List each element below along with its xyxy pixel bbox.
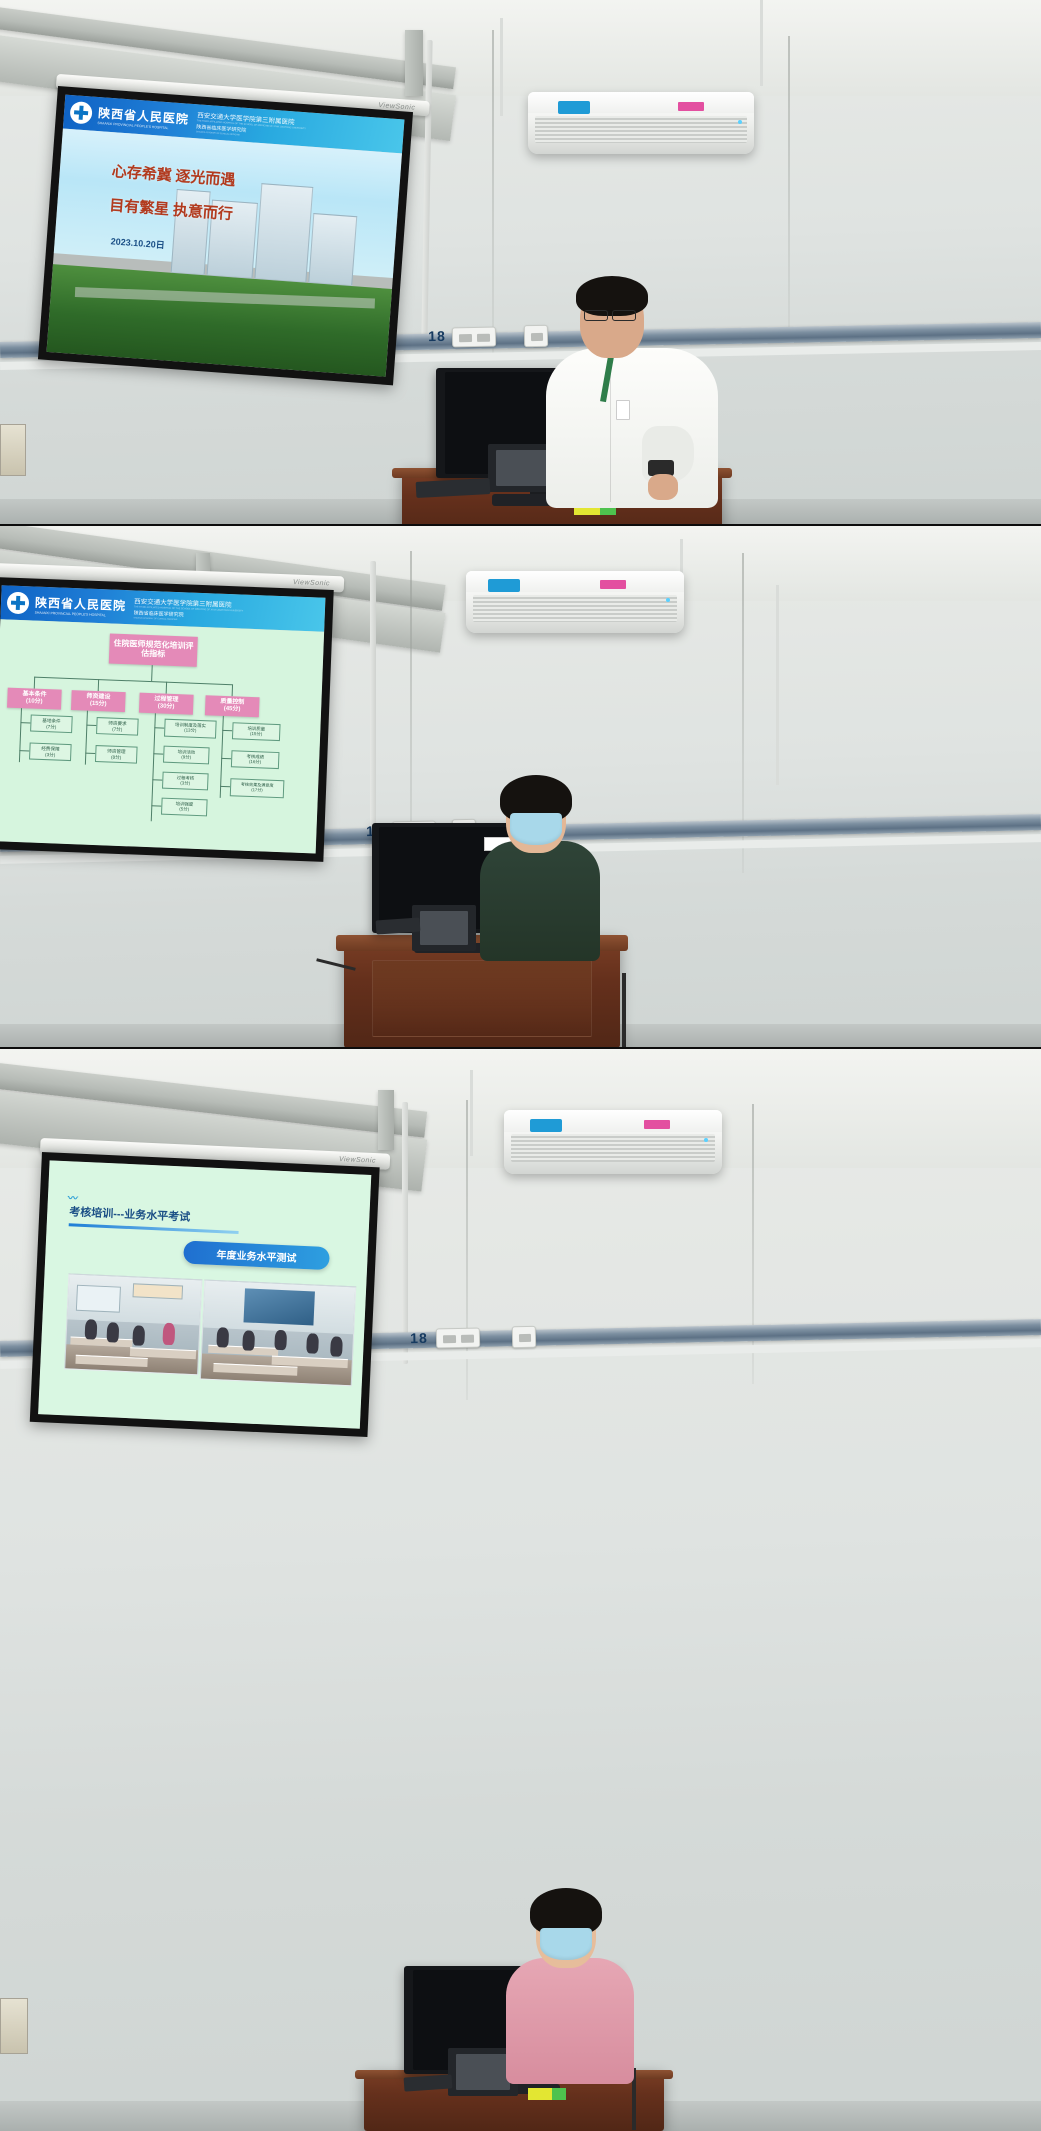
exam-pill-label: 年度业务水平测试 [216, 1246, 297, 1265]
cross-icon-2 [11, 596, 26, 611]
exam-photo-right-student-1 [216, 1327, 229, 1348]
ac-badge-2 [488, 579, 520, 592]
projection-screen-3: ViewSonic 〰 考核培训---业务水平考试 年度业务水平测试 [30, 1152, 388, 1437]
org-node-c3-1: 考核成绩 (16分) [231, 750, 280, 769]
org-node-c2-3-score: (5分) [179, 807, 189, 812]
outlet-plate-6 [512, 1326, 536, 1348]
org-node-l1-1-score: (15分) [90, 701, 107, 708]
org-node-c0-0: 基地条件 (7分) [30, 715, 73, 734]
org-node-l1-2-score: (30分) [158, 703, 175, 710]
ac-badge-3 [530, 1119, 562, 1132]
exam-photo-left-student-4 [162, 1323, 175, 1346]
exam-photo-left-student-2 [106, 1322, 119, 1343]
org-node-c0-1-score: (3分) [45, 752, 55, 758]
ac-sticker-3 [644, 1120, 670, 1129]
exam-photo-right-student-5 [330, 1336, 343, 1357]
wall-seam-1 [492, 30, 494, 360]
panel-divider-2 [0, 1047, 1041, 1049]
cable-conduit-3 [402, 1102, 408, 1364]
org-node-c2-0-score: (13分) [184, 728, 196, 733]
org-node-c2-1: 培训活动 (9分) [163, 746, 210, 765]
surgical-mask-1 [510, 813, 562, 845]
org-node-c3-0-score: (15分) [250, 731, 262, 736]
screen-brand-label-2: ViewSonic [293, 579, 330, 587]
exam-photo-left-student-1 [85, 1319, 98, 1340]
screen-surface-1: 陕西省人民医院 SHAANXI PROVINCIAL PEOPLE'S HOSP… [46, 95, 404, 377]
panel-divider-1 [0, 524, 1041, 526]
wall-cabinet-1 [0, 424, 26, 476]
edge-l1-2 [166, 682, 167, 694]
wall-seam-2 [788, 36, 790, 336]
presenter-male-torso [546, 348, 718, 508]
org-node-c3-2-score: (17分) [251, 788, 263, 793]
slide-cover: 陕西省人民医院 SHAANXI PROVINCIAL PEOPLE'S HOSP… [46, 95, 404, 377]
lecture-room-1: ViewSonic [0, 0, 1041, 525]
presenter-female-1 [470, 775, 610, 955]
screen-frame-1: 陕西省人民医院 SHAANXI PROVINCIAL PEOPLE'S HOSP… [38, 86, 413, 385]
ac-vent-3 [511, 1134, 716, 1162]
exam-title-underline [69, 1223, 239, 1234]
edge-c2-2 [152, 779, 162, 780]
wall-seam-6 [752, 1104, 754, 1384]
glasses-icon [584, 310, 608, 321]
org-node-c3-0: 培训质量 (15分) [232, 722, 281, 741]
screen-surface-3: 〰 考核培训---业务水平考试 年度业务水平测试 [38, 1160, 371, 1428]
org-node-c0-0-score: (7分) [46, 724, 56, 730]
screen-brand-label-3: ViewSonic [339, 1156, 376, 1165]
wall-cable-2 [760, 0, 763, 86]
glasses-icon-right [612, 310, 636, 321]
secondary-display-screen-2 [420, 911, 469, 946]
org-node-c3-1-score: (16分) [249, 759, 261, 764]
org-node-c2-2: 过程考核 (3分) [162, 772, 209, 791]
ceiling-beam-cross-3 [378, 1090, 394, 1150]
presenter-female-1-torso [480, 841, 600, 961]
exam-photo-left-board [76, 1285, 121, 1313]
power-cable-3 [622, 973, 626, 1047]
org-node-c1-0-score: (7分) [112, 726, 122, 732]
org-node-c3-2: 考核效果及满意度 (17分) [230, 778, 285, 798]
outlet-plate-1 [452, 327, 496, 348]
edge-c0-1 [19, 750, 29, 751]
cover-building-tower [254, 183, 313, 283]
exam-photo-right [200, 1279, 356, 1386]
org-chart-canvas: 住院医师规范化培训评估指标 基本条件 (10分) [0, 619, 324, 853]
presenter-male [540, 276, 720, 506]
edge-c3-1 [221, 758, 231, 759]
coat-placket [610, 360, 611, 502]
podium-front-panel-2 [372, 960, 593, 1037]
exam-slide-title: 考核培训---业务水平考试 [69, 1203, 191, 1224]
org-node-l1-1: 师资建设 (15分) [71, 690, 126, 712]
edge-root-bus [34, 677, 232, 686]
org-node-c2-0: 培训制度及落实 (13分) [164, 719, 217, 739]
edge-root-down [151, 665, 153, 681]
edge-c0-0 [20, 722, 30, 723]
screen-frame-2: 陕西省人民医院 SHAANXI PROVINCIAL PEOPLE'S HOSP… [0, 577, 334, 862]
ac-vent-2 [473, 595, 678, 622]
slide-exam: 〰 考核培训---业务水平考试 年度业务水平测试 [38, 1160, 371, 1428]
screen-frame-3: 〰 考核培训---业务水平考试 年度业务水平测试 [30, 1152, 380, 1437]
org-node-c1-1-score: (8分) [111, 754, 121, 760]
secondary-display-2 [412, 905, 476, 951]
projection-screen-1: ViewSonic [38, 86, 427, 386]
hospital-cross-logo-2 [7, 592, 30, 615]
photo-panel-2: ViewSonic [0, 525, 1041, 1048]
yellow-asset-tag-3 [528, 2088, 552, 2100]
edge-c3-2 [220, 786, 230, 787]
ac-led-1 [738, 120, 742, 124]
edge-c2-3 [151, 805, 161, 806]
edge-c1-spine [85, 711, 88, 765]
org-node-l1-0-score: (10分) [26, 698, 43, 705]
lecture-room-2: ViewSonic [0, 525, 1041, 1048]
air-conditioner-1 [528, 92, 754, 154]
cross-icon-1 [74, 105, 89, 120]
photo-panel-3: ViewSonic 〰 考核培训---业务水平考试 年度业务水平测试 [0, 1048, 1041, 2131]
ac-led-3 [704, 1138, 708, 1142]
exam-photo-right-student-3 [274, 1330, 287, 1351]
wall-cable-5 [470, 1070, 473, 1156]
green-asset-tag-3 [552, 2088, 566, 2100]
hospital-cross-logo-1 [69, 101, 93, 125]
room-number-plate-3: 18 [406, 1328, 432, 1349]
edge-c1-0 [86, 725, 96, 726]
air-conditioner-2 [466, 571, 684, 633]
room-number-plate-1: 18 [424, 326, 450, 346]
wall-cable-4 [776, 585, 779, 785]
wall-cable-1 [500, 18, 503, 116]
slide-org-chart: 陕西省人民医院 SHAANXI PROVINCIAL PEOPLE'S HOSP… [0, 585, 325, 853]
edge-l1-1 [98, 679, 99, 691]
org-node-l1-3: 质量控制 (45分) [205, 695, 260, 717]
exam-photo-left-banner [133, 1283, 184, 1299]
photo-collage: ViewSonic [0, 0, 1041, 2131]
outlet-hole-8 [461, 1335, 474, 1343]
screen-surface-2: 陕西省人民医院 SHAANXI PROVINCIAL PEOPLE'S HOSP… [0, 585, 325, 853]
org-node-l1-0: 基本条件 (10分) [7, 688, 62, 710]
surgical-mask-2 [540, 1928, 592, 1960]
ac-led-2 [666, 598, 670, 602]
org-node-c1-0: 师资要求 (7分) [96, 717, 139, 736]
ac-sticker-2 [600, 580, 626, 589]
exam-photo-left [64, 1273, 202, 1375]
exam-photo-left-student-3 [132, 1325, 145, 1346]
id-badge [616, 400, 630, 420]
outlet-hole-1 [459, 334, 472, 342]
edge-l1-3 [232, 684, 233, 696]
edge-c2-0 [154, 727, 164, 728]
org-node-l1-2: 过程管理 (30分) [139, 693, 194, 715]
exam-photo-right-student-2 [242, 1330, 255, 1351]
ac-sticker-1 [678, 102, 704, 111]
presenter-female-2-figure [500, 1888, 640, 2078]
cover-artwork-1: 心存希冀 逐光而遇 目有繁星 执意而行 2023.10.20日 [46, 128, 401, 376]
outlet-hole-7 [443, 1335, 456, 1343]
org-node-root-label: 住院医师规范化培训评估指标 [109, 640, 198, 661]
org-node-c0-1: 经费保障 (3分) [29, 742, 72, 761]
cover-building-right [308, 213, 357, 286]
photo-panel-1: ViewSonic [0, 0, 1041, 525]
exam-pill-badge: 年度业务水平测试 [183, 1241, 330, 1271]
org-node-c2-1-score: (9分) [181, 755, 191, 760]
wall-cabinet-2 [0, 1998, 28, 2054]
org-node-c1-1: 师资管理 (8分) [95, 745, 138, 764]
outlet-plate-5 [436, 1328, 480, 1349]
org-node-root: 住院医师规范化培训评估指标 [109, 633, 198, 666]
org-node-l1-3-score: (45分) [224, 706, 241, 713]
edge-c1-1 [85, 753, 95, 754]
edge-l1-0 [34, 677, 35, 689]
exam-photo-right-screen [243, 1288, 314, 1325]
edge-c2-1 [153, 753, 163, 754]
air-conditioner-3 [504, 1110, 722, 1174]
ac-badge-1 [558, 101, 590, 114]
org-node-c2-2-score: (3分) [180, 781, 190, 786]
exam-photo-right-student-4 [306, 1333, 319, 1354]
lecture-room-3: ViewSonic 〰 考核培训---业务水平考试 年度业务水平测试 [0, 1048, 1041, 2131]
ac-vent-1 [535, 116, 747, 143]
outlet-hole-9 [519, 1334, 531, 1342]
edge-c0-spine [19, 708, 22, 762]
presenter-male-hand [648, 474, 678, 500]
cable-conduit-2 [370, 561, 376, 851]
presenter-female-2-torso [506, 1958, 634, 2084]
org-node-c2-3: 培训强度 (5分) [161, 798, 208, 817]
ceiling-beam-cross [405, 30, 423, 96]
edge-c3-0 [222, 730, 232, 731]
exam-slide-canvas: 〰 考核培训---业务水平考试 年度业务水平测试 [38, 1160, 371, 1428]
projection-screen-2: ViewSonic [0, 577, 342, 862]
outlet-hole-2 [477, 334, 490, 342]
